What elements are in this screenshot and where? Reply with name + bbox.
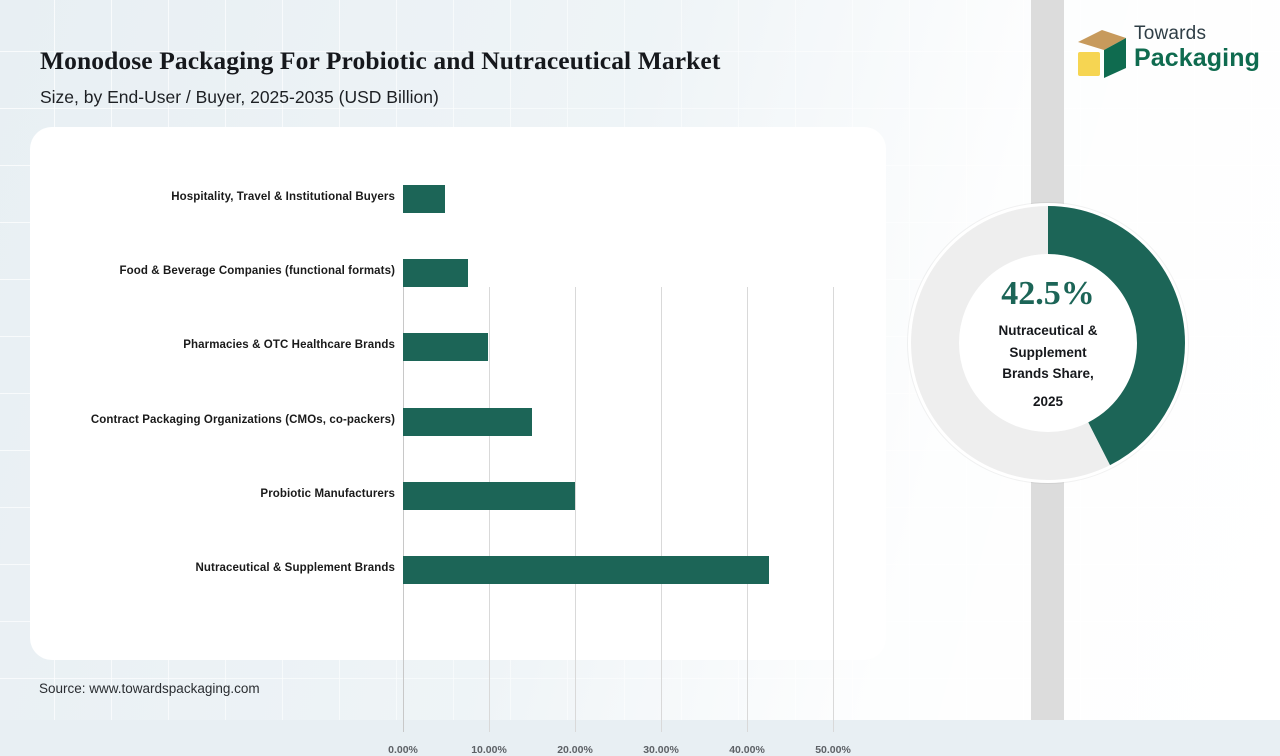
category-label: Pharmacies & OTC Healthcare Brands — [75, 339, 395, 351]
x-tick-label: 0.00% — [368, 744, 438, 756]
category-label: Contract Packaging Organizations (CMOs, … — [75, 414, 395, 426]
bar — [403, 185, 445, 213]
brand-logo: Towards Packaging — [1074, 24, 1254, 80]
gridline-50.00% — [833, 287, 834, 732]
x-tick-label: 40.00% — [712, 744, 782, 756]
gridline-30.00% — [661, 287, 662, 732]
box-logo-icon — [1074, 28, 1128, 80]
page-subtitle: Size, by End-User / Buyer, 2025-2035 (US… — [40, 87, 439, 108]
source-text: Source: www.towardspackaging.com — [39, 681, 260, 696]
donut-percent-value: 42.5% — [1001, 277, 1095, 311]
gridline-40.00% — [747, 287, 748, 732]
logo-line-2: Packaging — [1134, 46, 1260, 71]
logo-line-1: Towards — [1134, 24, 1260, 43]
category-label: Hospitality, Travel & Institutional Buye… — [75, 191, 395, 203]
category-label: Food & Beverage Companies (functional fo… — [75, 265, 395, 277]
donut-center-label: 42.5% Nutraceutical & Supplement Brands … — [960, 255, 1136, 431]
x-tick-label: 20.00% — [540, 744, 610, 756]
bar-chart-plot: 0.00%10.00%20.00%30.00%40.00%50.00%Hospi… — [30, 127, 886, 660]
x-tick-label: 50.00% — [798, 744, 868, 756]
bar — [403, 259, 468, 287]
page-title: Monodose Packaging For Probiotic and Nut… — [40, 46, 720, 76]
donut-year: 2025 — [1033, 394, 1063, 409]
bar — [403, 333, 488, 361]
x-tick-label: 10.00% — [454, 744, 524, 756]
donut-chart: 42.5% Nutraceutical & Supplement Brands … — [908, 203, 1188, 483]
gridline-20.00% — [575, 287, 576, 732]
bar — [403, 556, 769, 584]
donut-caption: Nutraceutical & Supplement Brands Share, — [998, 320, 1097, 385]
bar — [403, 408, 532, 436]
chart-card: 0.00%10.00%20.00%30.00%40.00%50.00%Hospi… — [30, 127, 886, 660]
bar — [403, 482, 575, 510]
category-label: Probiotic Manufacturers — [75, 488, 395, 500]
category-label: Nutraceutical & Supplement Brands — [75, 562, 395, 574]
logo-wordmark: Towards Packaging — [1134, 24, 1260, 71]
x-tick-label: 30.00% — [626, 744, 696, 756]
